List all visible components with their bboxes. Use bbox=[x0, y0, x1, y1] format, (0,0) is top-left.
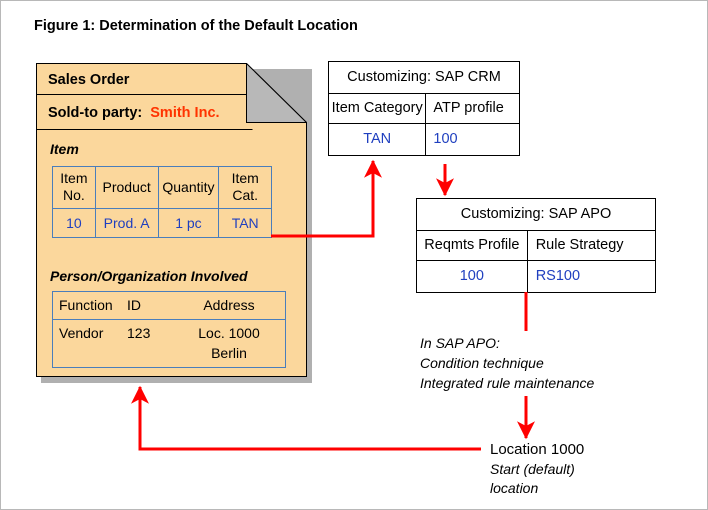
column-header-atp-profile: ATP profile bbox=[426, 94, 520, 124]
cell-item-no: 10 bbox=[53, 209, 96, 238]
table-header-row: Item Category ATP profile bbox=[329, 94, 520, 124]
cell-product: Prod. A bbox=[95, 209, 158, 238]
column-header-rule-strategy: Rule Strategy bbox=[527, 231, 655, 261]
crm-title: Customizing: SAP CRM bbox=[329, 62, 520, 94]
product-header-text: Product bbox=[96, 170, 158, 196]
apo-annotation-note: In SAP APO: Condition technique Integrat… bbox=[420, 333, 594, 393]
apo-note-line-1: In SAP APO: bbox=[420, 333, 594, 353]
item-section-heading: Item bbox=[50, 141, 79, 157]
item-cat-line2: Cat. bbox=[219, 187, 271, 204]
sales-order-note: Sales Order Sold-to party:Smith Inc. Ite… bbox=[36, 63, 307, 377]
table-header-row: Reqmts Profile Rule Strategy bbox=[417, 231, 656, 261]
sales-order-title: Sales Order bbox=[48, 72, 246, 88]
cell-item-category: TAN bbox=[329, 124, 426, 156]
table-header-row: Function ID Address bbox=[53, 292, 286, 320]
column-header-function: Function bbox=[53, 292, 128, 320]
cell-quantity: 1 pc bbox=[158, 209, 219, 238]
column-header-quantity: Quantity bbox=[158, 167, 219, 209]
location-result-block: Location 1000 Start (default) location bbox=[490, 439, 584, 498]
apo-title-row: Customizing: SAP APO bbox=[417, 199, 656, 231]
address-line-2: Berlin bbox=[173, 343, 285, 363]
crm-title-row: Customizing: SAP CRM bbox=[329, 62, 520, 94]
sold-to-party-value: Smith Inc. bbox=[150, 105, 219, 121]
item-table: Item No. Product Quantity Item Cat. bbox=[52, 166, 272, 238]
customizing-apo-box: Customizing: SAP APO Reqmts Profile Rule… bbox=[416, 198, 656, 293]
figure-canvas: Figure 1: Determination of the Default L… bbox=[0, 0, 708, 510]
item-no-line2: No. bbox=[53, 187, 95, 204]
person-organization-table: Function ID Address Vendor 123 Loc. 1000… bbox=[52, 291, 286, 368]
column-header-product: Product bbox=[95, 167, 158, 209]
table-row: 10 Prod. A 1 pc TAN bbox=[53, 209, 272, 238]
quantity-header-text: Quantity bbox=[159, 170, 219, 196]
cell-rule-strategy: RS100 bbox=[527, 261, 655, 293]
cell-reqmts-profile: 100 bbox=[417, 261, 528, 293]
location-result-title: Location 1000 bbox=[490, 439, 584, 460]
arrow-location-to-sales-order bbox=[140, 387, 481, 449]
customizing-crm-box: Customizing: SAP CRM Item Category ATP p… bbox=[328, 61, 520, 156]
note-content-layer: Sales Order Sold-to party:Smith Inc. Ite… bbox=[36, 63, 307, 377]
sold-to-party-row: Sold-to party:Smith Inc. bbox=[48, 104, 220, 122]
table-row: 100 RS100 bbox=[417, 261, 656, 293]
table-header-row: Item No. Product Quantity Item Cat. bbox=[53, 167, 272, 209]
column-header-address: Address bbox=[173, 292, 286, 320]
apo-note-line-2: Condition technique bbox=[420, 353, 594, 373]
cell-atp-profile: 100 bbox=[426, 124, 520, 156]
cell-function: Vendor bbox=[53, 320, 128, 368]
apo-title: Customizing: SAP APO bbox=[417, 199, 656, 231]
table-row: Vendor 123 Loc. 1000 Berlin bbox=[53, 320, 286, 368]
cell-item-cat: TAN bbox=[219, 209, 272, 238]
column-header-item-no: Item No. bbox=[53, 167, 96, 209]
cell-address: Loc. 1000 Berlin bbox=[173, 320, 286, 368]
person-organization-heading: Person/Organization Involved bbox=[50, 268, 248, 284]
location-result-sub-line-2: location bbox=[490, 479, 584, 498]
item-cat-line1: Item bbox=[219, 170, 271, 187]
page-title: Figure 1: Determination of the Default L… bbox=[34, 18, 358, 34]
column-header-id: ID bbox=[127, 292, 173, 320]
column-header-item-cat: Item Cat. bbox=[219, 167, 272, 209]
location-result-sub-line-1: Start (default) bbox=[490, 460, 584, 479]
sold-to-party-label: Sold-to party: bbox=[48, 105, 142, 121]
address-line-1: Loc. 1000 bbox=[173, 323, 285, 343]
apo-note-line-3: Integrated rule maintenance bbox=[420, 373, 594, 393]
cell-id: 123 bbox=[127, 320, 173, 368]
table-row: TAN 100 bbox=[329, 124, 520, 156]
column-header-item-category: Item Category bbox=[329, 94, 426, 124]
item-no-line1: Item bbox=[53, 170, 95, 187]
column-header-reqmts-profile: Reqmts Profile bbox=[417, 231, 528, 261]
